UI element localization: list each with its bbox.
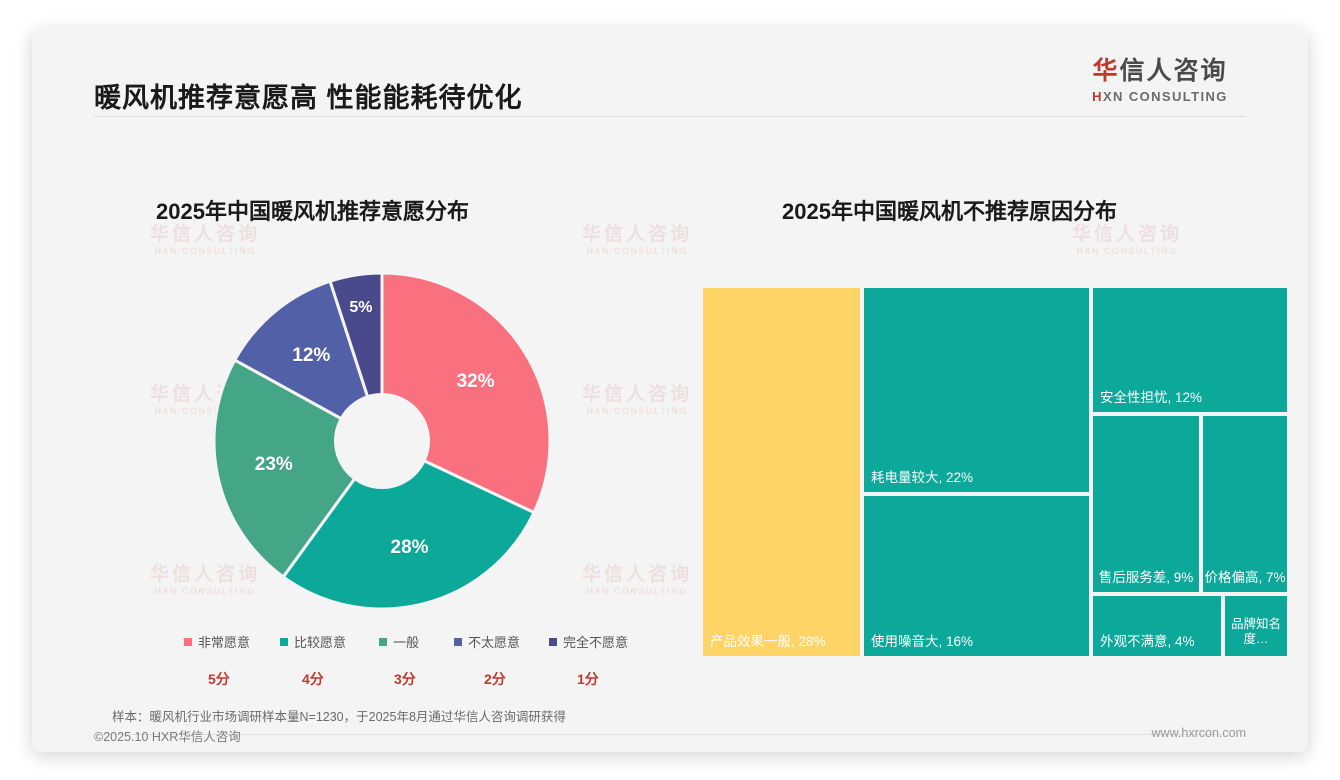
legend-item-0[interactable]: 非常愿意	[184, 632, 250, 651]
watermark-line1: 华信人咨询	[1072, 224, 1182, 246]
watermark: 华信人咨询 HXN CONSULTING	[582, 564, 692, 596]
donut-slice-label-0: 32%	[457, 371, 495, 393]
right-chart-title: 2025年中国暖风机不推荐原因分布	[782, 194, 1117, 226]
legend-label: 非常愿意	[198, 632, 250, 651]
website-link[interactable]: www.hxrcon.com	[1152, 726, 1246, 740]
treemap-cell-label-2: 使用噪音大, 16%	[871, 634, 1084, 651]
donut-legend: 非常愿意比较愿意一般不太愿意完全不愿意	[184, 632, 654, 650]
donut-slice-label-2: 23%	[255, 454, 293, 476]
treemap-cell-6[interactable]: 外观不满意, 4%	[1091, 594, 1223, 658]
header-divider	[94, 116, 1246, 117]
watermark: 华信人咨询 HXN CONSULTING	[582, 384, 692, 416]
score-label-2: 3分	[394, 669, 416, 689]
company-logo: 华信人咨询 HXN CONSULTING	[1070, 58, 1250, 104]
left-chart-title: 2025年中国暖风机推荐意愿分布	[156, 194, 469, 226]
treemap-cell-label-6: 外观不满意, 4%	[1100, 634, 1216, 651]
watermark: 华信人咨询 HXN CONSULTING	[1072, 224, 1182, 256]
page-title: 暖风机推荐意愿高 性能能耗待优化	[94, 76, 523, 115]
logo-en-rest: XN CONSULTING	[1103, 89, 1228, 104]
treemap-cell-4[interactable]: 售后服务差, 9%	[1091, 414, 1201, 594]
legend-label: 一般	[393, 632, 419, 651]
treemap-cell-5[interactable]: 价格偏高, 7%	[1201, 414, 1289, 594]
treemap-cell-label-0: 产品效果一般, 28%	[710, 634, 855, 651]
legend-swatch-icon	[549, 638, 557, 646]
treemap-cell-label-4: 售后服务差, 9%	[1093, 570, 1199, 587]
donut-score-row: 5分4分3分2分1分	[184, 669, 654, 689]
legend-swatch-icon	[280, 638, 288, 646]
watermark-line1: 华信人咨询	[150, 224, 260, 246]
legend-item-4[interactable]: 完全不愿意	[549, 632, 628, 651]
legend-item-3[interactable]: 不太愿意	[454, 632, 520, 651]
score-label-1: 4分	[302, 669, 324, 689]
watermark-line2: HXN CONSULTING	[1072, 246, 1182, 256]
logo-cn-rest: 信人咨询	[1120, 57, 1228, 85]
watermark-line1: 华信人咨询	[582, 384, 692, 406]
legend-item-2[interactable]: 一般	[379, 632, 419, 651]
slide-footer: ©2025.10 HXR华信人咨询 www.hxrcon.com	[32, 718, 1308, 752]
score-label-4: 1分	[577, 669, 599, 689]
logo-cn-first-char: 华	[1092, 57, 1119, 85]
treemap-cell-0[interactable]: 产品效果一般, 28%	[701, 286, 862, 658]
watermark-line2: HXN CONSULTING	[150, 246, 260, 256]
donut-center-hole	[334, 393, 430, 489]
legend-swatch-icon	[184, 638, 192, 646]
watermark-line2: HXN CONSULTING	[582, 586, 692, 596]
legend-swatch-icon	[379, 638, 387, 646]
watermark-line2: HXN CONSULTING	[582, 246, 692, 256]
treemap-cell-7[interactable]: 品牌知名度…	[1223, 594, 1289, 658]
treemap-cell-3[interactable]: 安全性担忧, 12%	[1091, 286, 1289, 414]
logo-english-text: HXN CONSULTING	[1070, 89, 1250, 104]
treemap-cell-label-1: 耗电量较大, 22%	[871, 470, 1084, 487]
donut-slice-label-1: 28%	[391, 537, 429, 559]
recommendation-donut-chart: 32%28%23%12%5%	[212, 271, 552, 611]
donut-slice-label-4: 5%	[349, 299, 372, 317]
treemap-cell-label-7: 品牌知名度…	[1225, 617, 1287, 648]
reasons-treemap-chart: 产品效果一般, 28%耗电量较大, 22%使用噪音大, 16%安全性担忧, 12…	[701, 286, 1289, 658]
watermark: 华信人咨询 HXN CONSULTING	[150, 224, 260, 256]
watermark: 华信人咨询 HXN CONSULTING	[582, 224, 692, 256]
logo-en-first-char: H	[1092, 89, 1103, 104]
donut-slice-label-3: 12%	[292, 345, 330, 367]
score-label-3: 2分	[484, 669, 506, 689]
treemap-cell-label-3: 安全性担忧, 12%	[1100, 390, 1282, 407]
legend-swatch-icon	[454, 638, 462, 646]
treemap-cell-2[interactable]: 使用噪音大, 16%	[862, 494, 1091, 658]
treemap-cell-1[interactable]: 耗电量较大, 22%	[862, 286, 1091, 494]
logo-chinese-text: 华信人咨询	[1070, 58, 1250, 86]
slide-card: 暖风机推荐意愿高 性能能耗待优化 华信人咨询 HXN CONSULTING 华信…	[32, 28, 1308, 752]
legend-label: 不太愿意	[468, 632, 520, 651]
score-label-0: 5分	[208, 669, 230, 689]
slide-header: 暖风机推荐意愿高 性能能耗待优化 华信人咨询 HXN CONSULTING	[32, 28, 1308, 118]
watermark-line1: 华信人咨询	[582, 224, 692, 246]
copyright-text: ©2025.10 HXR华信人咨询	[94, 726, 241, 745]
treemap-cell-label-5: 价格偏高, 7%	[1203, 570, 1287, 587]
watermark-line1: 华信人咨询	[582, 564, 692, 586]
legend-label: 比较愿意	[294, 632, 346, 651]
legend-label: 完全不愿意	[563, 632, 628, 651]
legend-item-1[interactable]: 比较愿意	[280, 632, 346, 651]
watermark-line2: HXN CONSULTING	[582, 406, 692, 416]
